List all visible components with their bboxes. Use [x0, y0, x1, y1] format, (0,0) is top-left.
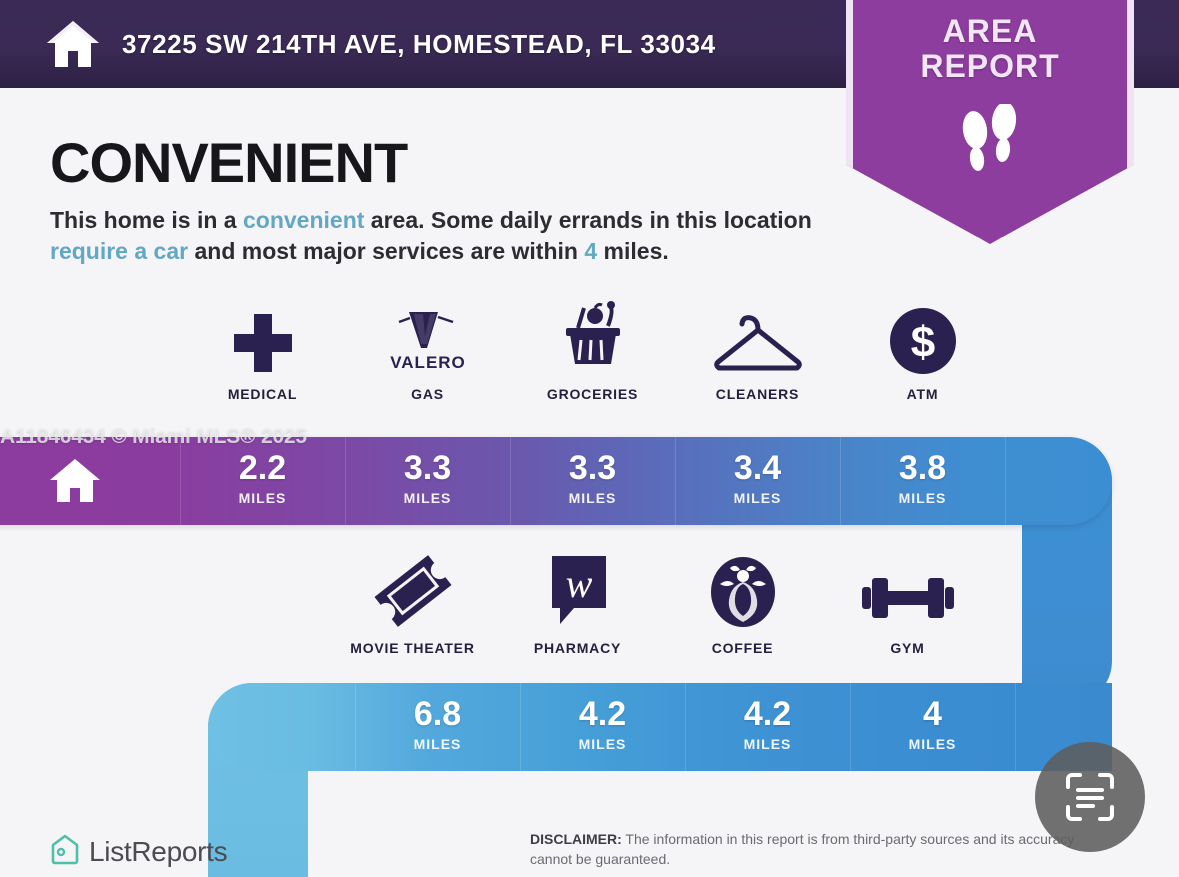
medical-cross-icon	[230, 298, 296, 376]
distance-value: 4.2	[685, 697, 850, 731]
blurb-highlight-require-car: require a car	[50, 238, 188, 264]
distance-unit: MILES	[510, 490, 675, 506]
amenity-icon-row-1: MEDICAL VALERO GAS	[180, 298, 1005, 402]
distance-unit: MILES	[850, 736, 1015, 752]
valero-logo-icon: VALERO	[383, 298, 473, 376]
live-text-scan-icon	[1062, 769, 1118, 825]
distance-pharmacy: 4.2 MILES	[520, 697, 685, 752]
distance-atm: 3.8 MILES	[840, 451, 1005, 506]
blurb-part-3: and most major services are within	[188, 238, 584, 264]
badge-line-2: REPORT	[846, 49, 1134, 84]
svg-text:VALERO: VALERO	[390, 353, 466, 372]
area-report-badge: AREA REPORT	[846, 0, 1134, 244]
amenity-label: ATM	[907, 386, 939, 402]
distance-band-row-1: 2.2 MILES 3.3 MILES 3.3 MILES 3.4 MILES …	[0, 437, 1112, 525]
distance-value: 6.8	[355, 697, 520, 731]
amenity-atm: $ ATM	[840, 298, 1005, 402]
amenity-label: MEDICAL	[228, 386, 297, 402]
amenity-medical: MEDICAL	[180, 298, 345, 402]
home-marker-icon	[48, 457, 102, 510]
distance-ribbon: 2.2 MILES 3.3 MILES 3.3 MILES 3.4 MILES …	[0, 415, 1179, 877]
distance-coffee: 4.2 MILES	[685, 697, 850, 752]
blurb-part-2: area. Some daily errands in this locatio…	[364, 207, 811, 233]
listreports-brand-name: ListReports	[89, 836, 227, 868]
footprints-icon	[846, 104, 1134, 187]
grocery-basket-icon	[554, 298, 632, 376]
distance-unit: MILES	[685, 736, 850, 752]
clothes-hanger-icon	[712, 298, 804, 376]
atm-dollar-icon: $	[888, 298, 958, 376]
disclaimer-label: DISCLAIMER:	[530, 831, 622, 847]
distance-unit: MILES	[355, 736, 520, 752]
mls-watermark: A11846434 © Miami MLS® 2025	[0, 425, 307, 449]
distance-medical: 2.2 MILES	[180, 451, 345, 506]
page-title: CONVENIENT	[50, 130, 407, 195]
distance-unit: MILES	[840, 490, 1005, 506]
distance-value: 3.4	[675, 451, 840, 485]
area-report-page: 37225 SW 214TH AVE, HOMESTEAD, FL 33034 …	[0, 0, 1179, 877]
distance-unit: MILES	[180, 490, 345, 506]
disclaimer-text: DISCLAIMER: The information in this repo…	[530, 830, 1090, 870]
distance-value: 3.3	[345, 451, 510, 485]
distance-unit: MILES	[520, 736, 685, 752]
distance-unit: MILES	[675, 490, 840, 506]
distance-groceries: 3.3 MILES	[510, 451, 675, 506]
distance-gas: 3.3 MILES	[345, 451, 510, 506]
distance-cleaners: 3.4 MILES	[675, 451, 840, 506]
blurb-highlight-convenient: convenient	[243, 207, 364, 233]
live-text-scan-button[interactable]	[1035, 742, 1145, 852]
amenity-groceries: GROCERIES	[510, 298, 675, 402]
blurb-highlight-miles: 4	[584, 238, 597, 264]
distance-value: 2.2	[180, 451, 345, 485]
distance-value: 3.8	[840, 451, 1005, 485]
distance-value: 4.2	[520, 697, 685, 731]
badge-line-1: AREA	[846, 14, 1134, 49]
distance-value: 4	[850, 697, 1015, 731]
blurb-part-1: This home is in a	[50, 207, 243, 233]
property-address: 37225 SW 214TH AVE, HOMESTEAD, FL 33034	[122, 29, 716, 60]
distance-band-row-2: 6.8 MILES 4.2 MILES 4.2 MILES 4 MILES	[208, 683, 1112, 771]
amenity-gas: VALERO GAS	[345, 298, 510, 402]
amenity-label: CLEANERS	[716, 386, 799, 402]
badge-text: AREA REPORT	[846, 14, 1134, 83]
blurb-part-4: miles.	[597, 238, 669, 264]
listreports-logo: ListReports	[50, 833, 227, 870]
home-icon	[42, 16, 104, 72]
distance-value: 3.3	[510, 451, 675, 485]
amenity-label: GROCERIES	[547, 386, 638, 402]
distance-movie-theater: 6.8 MILES	[355, 697, 520, 752]
amenity-cleaners: CLEANERS	[675, 298, 840, 402]
distance-gym: 4 MILES	[850, 697, 1015, 752]
amenity-label: GAS	[411, 386, 444, 402]
description-text: This home is in a convenient area. Some …	[50, 205, 840, 267]
svg-text:$: $	[910, 318, 934, 367]
listreports-house-icon	[50, 833, 80, 870]
distance-unit: MILES	[345, 490, 510, 506]
